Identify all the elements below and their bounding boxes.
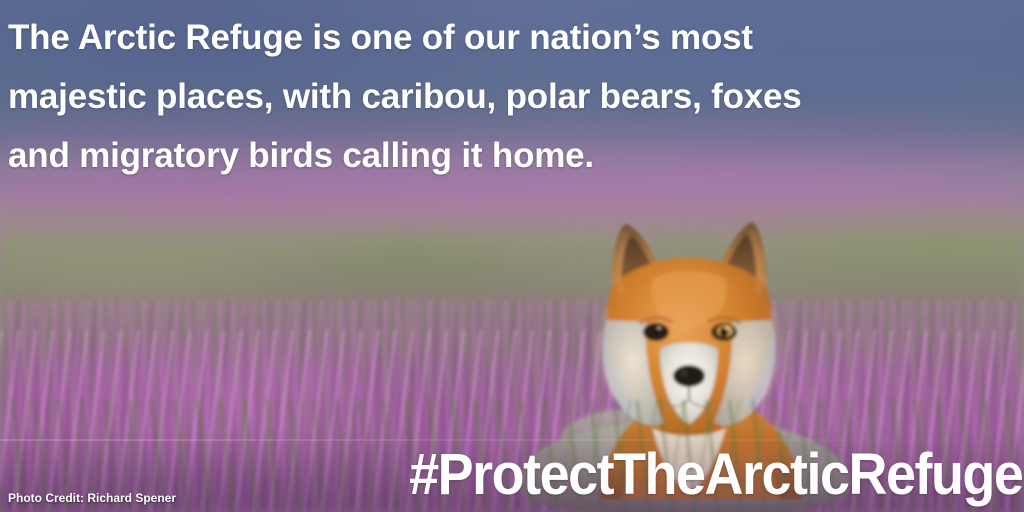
headline-line-3: and migratory birds calling it home. [8,126,1016,185]
hashtag-text: #ProtectTheArcticRefuge [409,441,1022,508]
headline-line-2: majestic places, with caribou, polar bea… [8,67,1016,126]
headline-line-1: The Arctic Refuge is one of our nation’s… [8,8,1016,67]
photo-credit: Photo Credit: Richard Spener [8,491,176,505]
social-media-graphic: The Arctic Refuge is one of our nation’s… [0,0,1024,512]
headline-text: The Arctic Refuge is one of our nation’s… [8,8,1016,185]
